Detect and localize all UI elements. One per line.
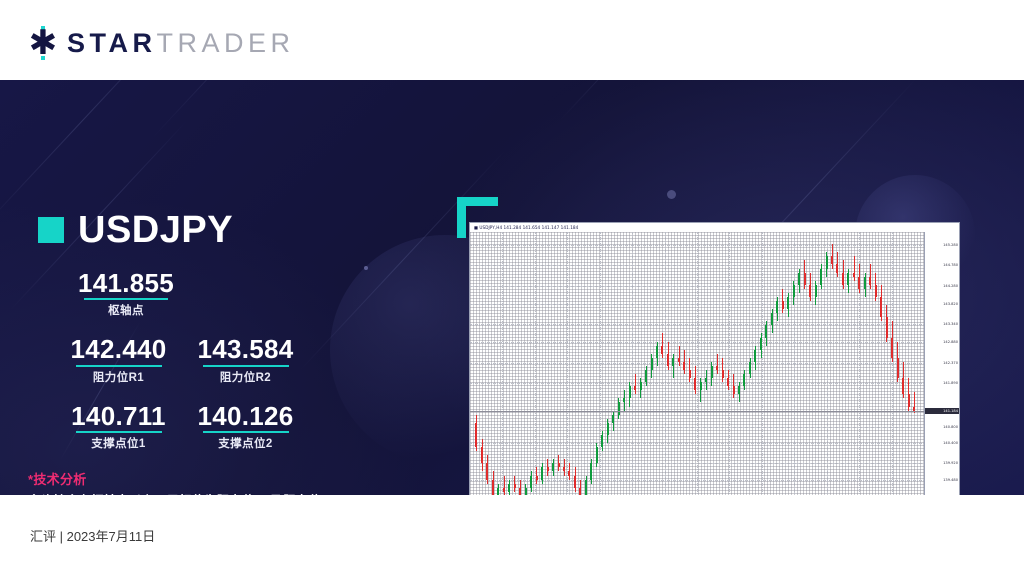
candle-body: [525, 488, 527, 495]
candle-body: [804, 273, 806, 285]
candle-body: [716, 366, 718, 370]
candlestick: [869, 264, 871, 288]
candle-body: [497, 488, 499, 495]
price-axis-tick: 145.280: [943, 243, 958, 247]
footer-bar: 汇评 | 2023年7月11日: [0, 495, 1024, 576]
candlestick: [880, 285, 882, 322]
footer-caption: 汇评 | 2023年7月11日: [30, 526, 155, 545]
candlestick: [672, 354, 674, 378]
candlestick: [568, 463, 570, 479]
price-axis-tick: 140.800: [943, 425, 958, 429]
candle-body: [634, 386, 636, 390]
candle-body: [765, 325, 767, 337]
candlestick: [727, 370, 729, 390]
chart-title: ■ USDJPY,H4 141.284 141.654 141.147 141.…: [474, 224, 578, 232]
candlestick: [678, 346, 680, 366]
candlestick: [651, 354, 653, 378]
candle-body: [782, 301, 784, 309]
candle-body: [727, 378, 729, 386]
candlestick: [875, 273, 877, 301]
level-pivot-underline: [84, 298, 168, 300]
candle-body: [607, 423, 609, 435]
level-r2-value: 143.584: [189, 336, 302, 363]
candle-body: [596, 447, 598, 463]
grid-line-horizontal: [470, 383, 924, 384]
candle-body: [590, 463, 592, 479]
price-chart[interactable]: ■ USDJPY,H4 141.284 141.654 141.147 141.…: [469, 222, 960, 495]
candlestick: [661, 333, 663, 357]
candlestick: [475, 415, 477, 452]
brand-name-light: TRADER: [157, 28, 295, 58]
candlestick: [897, 342, 899, 383]
candlestick: [525, 484, 527, 495]
current-price-tag: 141.184: [925, 408, 959, 414]
candle-body: [787, 297, 789, 309]
candle-body: [733, 386, 735, 394]
candle-body: [793, 285, 795, 297]
currency-pair-heading: USDJPY: [38, 211, 233, 249]
candle-body: [722, 370, 724, 378]
candlestick: [820, 264, 822, 288]
candlestick: [536, 467, 538, 483]
technical-analysis-block: *技术分析 多头持仓在枢轴点以上，目标位为阻力位R1及阻力位R2。 若低于枢轴点…: [28, 469, 408, 495]
pivot-levels-group: 141.855 枢轴点 142.440 阻力位R1 143.584 阻力位R2: [38, 270, 368, 451]
decor-dot-1: [667, 190, 676, 199]
grid-line-horizontal: [470, 443, 924, 444]
candlestick: [891, 321, 893, 362]
candlestick: [558, 455, 560, 471]
level-r1-underline: [76, 365, 162, 367]
candle-body: [486, 463, 488, 479]
candle-body: [864, 277, 866, 289]
candle-body: [612, 415, 614, 423]
candle-body: [858, 277, 860, 289]
candle-body: [897, 358, 899, 378]
brand-wordmark: STARTRADER: [67, 28, 295, 59]
candle-body: [820, 269, 822, 285]
level-pivot-label: 枢轴点: [38, 302, 214, 318]
level-s2-underline: [203, 431, 289, 433]
logo-asterisk-glyph: ✱: [28, 31, 58, 55]
candle-body: [831, 256, 833, 264]
candlestick: [826, 252, 828, 276]
pair-bullet-square: [38, 217, 64, 243]
candle-body: [902, 378, 904, 394]
candlestick: [629, 382, 631, 406]
grid-line-horizontal: [470, 342, 924, 343]
candlestick: [552, 459, 554, 475]
candlestick: [596, 443, 598, 467]
price-axis-tick: 140.400: [943, 441, 958, 445]
candle-body: [558, 463, 560, 467]
candlestick: [765, 321, 767, 345]
pivot-row: 141.855 枢轴点: [38, 270, 368, 318]
grid-line-horizontal: [470, 427, 924, 428]
candlestick: [782, 289, 784, 313]
candle-body: [754, 350, 756, 362]
level-s2: 140.126 支撑点位2: [189, 403, 302, 451]
candlestick: [804, 260, 806, 288]
price-axis-tick: 141.890: [943, 381, 958, 385]
candlestick: [847, 269, 849, 293]
candle-body: [519, 488, 521, 495]
candle-body: [640, 382, 642, 390]
candle-body: [503, 488, 505, 492]
candlestick: [514, 476, 516, 492]
candle-body: [836, 264, 838, 272]
candle-body: [492, 480, 494, 495]
candlestick: [519, 480, 521, 495]
candlestick: [618, 398, 620, 418]
candlestick: [497, 484, 499, 495]
candle-body: [711, 366, 713, 378]
candle-body: [853, 273, 855, 277]
resistance-row: 142.440 阻力位R1 143.584 阻力位R2: [38, 336, 368, 384]
candlestick: [492, 471, 494, 495]
current-price-line: [470, 411, 924, 412]
candle-body: [847, 273, 849, 285]
candle-body: [541, 467, 543, 479]
candlestick: [503, 476, 505, 495]
current-price-value: 141.184: [943, 409, 958, 414]
price-axis: 145.280144.780144.280143.820143.340142.8…: [924, 232, 959, 495]
candle-body: [530, 476, 532, 488]
grid-line-horizontal: [470, 480, 924, 481]
chart-title-text: USDJPY,H4 141.284 141.654 141.147 141.18…: [479, 225, 578, 230]
candlestick: [705, 370, 707, 390]
price-axis-tick: 139.480: [943, 478, 958, 482]
level-r2-label: 阻力位R2: [189, 369, 302, 385]
level-pivot-value: 141.855: [38, 270, 214, 297]
candle-body: [880, 297, 882, 317]
price-axis-tick: 142.880: [943, 340, 958, 344]
candle-body: [826, 256, 828, 268]
candle-body: [667, 354, 669, 366]
candlestick: [623, 390, 625, 410]
candle-body: [629, 386, 631, 398]
candlestick: [640, 378, 642, 398]
candle-wick: [679, 346, 680, 366]
level-r1-label: 阻力位R1: [62, 369, 175, 385]
grid-line-horizontal: [470, 363, 924, 364]
candlestick: [864, 273, 866, 297]
candle-body: [886, 317, 888, 337]
candle-body: [623, 398, 625, 402]
candle-body: [618, 402, 620, 414]
candlestick: [486, 455, 488, 483]
price-axis-tick: 144.280: [943, 284, 958, 288]
level-s1-label: 支撑点位1: [62, 435, 175, 451]
candlestick: [683, 350, 685, 374]
candle-body: [508, 484, 510, 492]
candlestick: [836, 252, 838, 276]
candlestick: [607, 419, 609, 443]
candlestick: [754, 346, 756, 370]
candlestick: [722, 358, 724, 382]
pair-name: USDJPY: [78, 211, 233, 249]
candlestick: [700, 378, 702, 402]
candlestick: [908, 378, 910, 410]
candlestick: [771, 309, 773, 333]
candle-body: [536, 476, 538, 480]
grid-line-horizontal: [470, 324, 924, 325]
candlestick: [760, 333, 762, 357]
candle-body: [563, 467, 565, 471]
candlestick: [579, 480, 581, 495]
support-row: 140.711 支撑点位1 140.126 支撑点位2: [38, 403, 368, 451]
candlestick: [547, 459, 549, 475]
candle-wick: [504, 476, 505, 495]
candlestick: [733, 374, 735, 398]
candlestick: [776, 297, 778, 321]
candlestick: [913, 392, 915, 412]
candle-body: [798, 273, 800, 285]
candlestick: [743, 370, 745, 390]
candlestick: [574, 467, 576, 491]
level-s2-value: 140.126: [189, 403, 302, 430]
candlestick: [541, 463, 543, 483]
candle-body: [651, 358, 653, 370]
candlestick: [634, 374, 636, 394]
candle-body: [552, 463, 554, 471]
chart-header: ■ USDJPY,H4 141.284 141.654 141.147 141.…: [470, 223, 959, 232]
candlestick: [798, 269, 800, 293]
candle-body: [749, 362, 751, 374]
logo-square-bottom: [41, 56, 45, 60]
candle-body: [815, 285, 817, 297]
candle-body: [694, 378, 696, 390]
brand-logo: ✱ STARTRADER: [28, 26, 295, 60]
grid-line-horizontal: [470, 463, 924, 464]
candle-body: [568, 471, 570, 475]
candlestick: [612, 411, 614, 431]
candlestick: [809, 273, 811, 301]
level-r1: 142.440 阻力位R1: [62, 336, 175, 384]
candle-body: [771, 313, 773, 325]
candle-body: [908, 394, 910, 406]
candle-body: [661, 346, 663, 354]
candle-body: [656, 346, 658, 358]
candle-body: [574, 476, 576, 488]
asterisk-star-icon: ✱: [28, 26, 58, 60]
price-axis-tick: 142.370: [943, 361, 958, 365]
candle-body: [743, 374, 745, 386]
candle-body: [776, 301, 778, 313]
level-r2-underline: [203, 365, 289, 367]
candle-body: [842, 273, 844, 285]
candle-body: [683, 362, 685, 370]
candlestick: [886, 305, 888, 342]
candle-body: [579, 488, 581, 495]
grid-line-horizontal: [470, 245, 924, 246]
price-axis-tick: 143.340: [943, 322, 958, 326]
candle-body: [760, 338, 762, 350]
candlestick: [853, 256, 855, 280]
candlestick: [601, 431, 603, 451]
candle-body: [475, 423, 477, 447]
candlestick: [902, 362, 904, 399]
candlestick: [858, 264, 860, 292]
level-s1-value: 140.711: [62, 403, 175, 430]
candlestick: [694, 366, 696, 394]
candle-body: [585, 480, 587, 495]
slide-root: ✱ STARTRADER USDJPY 141.85: [0, 0, 1024, 576]
candle-body: [705, 378, 707, 382]
header-bar: ✱ STARTRADER: [0, 0, 1024, 80]
candle-body: [678, 358, 680, 362]
candlestick: [793, 281, 795, 305]
candle-body: [547, 467, 549, 471]
candlestick: [738, 382, 740, 402]
candlestick: [815, 281, 817, 305]
candle-body: [738, 386, 740, 394]
candle-wick: [635, 374, 636, 394]
candle-body: [672, 358, 674, 366]
level-s1-underline: [76, 431, 162, 433]
hero-panel: USDJPY 141.855 枢轴点 142.440 阻力位R1 143.584: [0, 80, 1024, 495]
candle-body: [869, 277, 871, 285]
candlestick: [842, 260, 844, 288]
candlestick: [508, 480, 510, 495]
grid-line-horizontal: [470, 304, 924, 305]
candlestick-plot-area[interactable]: [470, 232, 924, 495]
analysis-title: *技术分析: [28, 469, 408, 488]
candlestick: [481, 439, 483, 471]
candlestick: [645, 366, 647, 386]
level-r1-value: 142.440: [62, 336, 175, 363]
candlestick: [749, 358, 751, 378]
candlestick: [689, 358, 691, 382]
candlestick: [656, 342, 658, 366]
level-pivot: 141.855 枢轴点: [38, 270, 214, 318]
candle-wick: [717, 354, 718, 374]
candle-body: [700, 382, 702, 390]
candle-body: [875, 285, 877, 297]
candlestick: [667, 342, 669, 370]
price-axis-tick: 139.920: [943, 461, 958, 465]
price-axis-tick: 143.820: [943, 302, 958, 306]
grid-line-horizontal: [470, 265, 924, 266]
candle-body: [645, 370, 647, 382]
grid-line-horizontal: [470, 286, 924, 287]
candlestick: [585, 476, 587, 495]
candlestick: [590, 459, 592, 483]
candlestick: [530, 471, 532, 491]
brand-name-bold: STAR: [67, 28, 157, 58]
candle-body: [689, 370, 691, 378]
candle-body: [601, 435, 603, 447]
chart-body: 145.280144.780144.280143.820143.340142.8…: [470, 232, 959, 495]
candle-body: [514, 484, 516, 488]
candlestick: [716, 354, 718, 374]
level-r2: 143.584 阻力位R2: [189, 336, 302, 384]
level-s1: 140.711 支撑点位1: [62, 403, 175, 451]
candle-body: [481, 447, 483, 463]
candlestick: [787, 293, 789, 317]
candlestick: [831, 244, 833, 268]
candle-wick: [854, 256, 855, 280]
candle-body: [809, 285, 811, 297]
candlestick: [711, 362, 713, 386]
price-axis-tick: 144.780: [943, 263, 958, 267]
level-s2-label: 支撑点位2: [189, 435, 302, 451]
candlestick: [563, 459, 565, 475]
candle-body: [891, 338, 893, 358]
